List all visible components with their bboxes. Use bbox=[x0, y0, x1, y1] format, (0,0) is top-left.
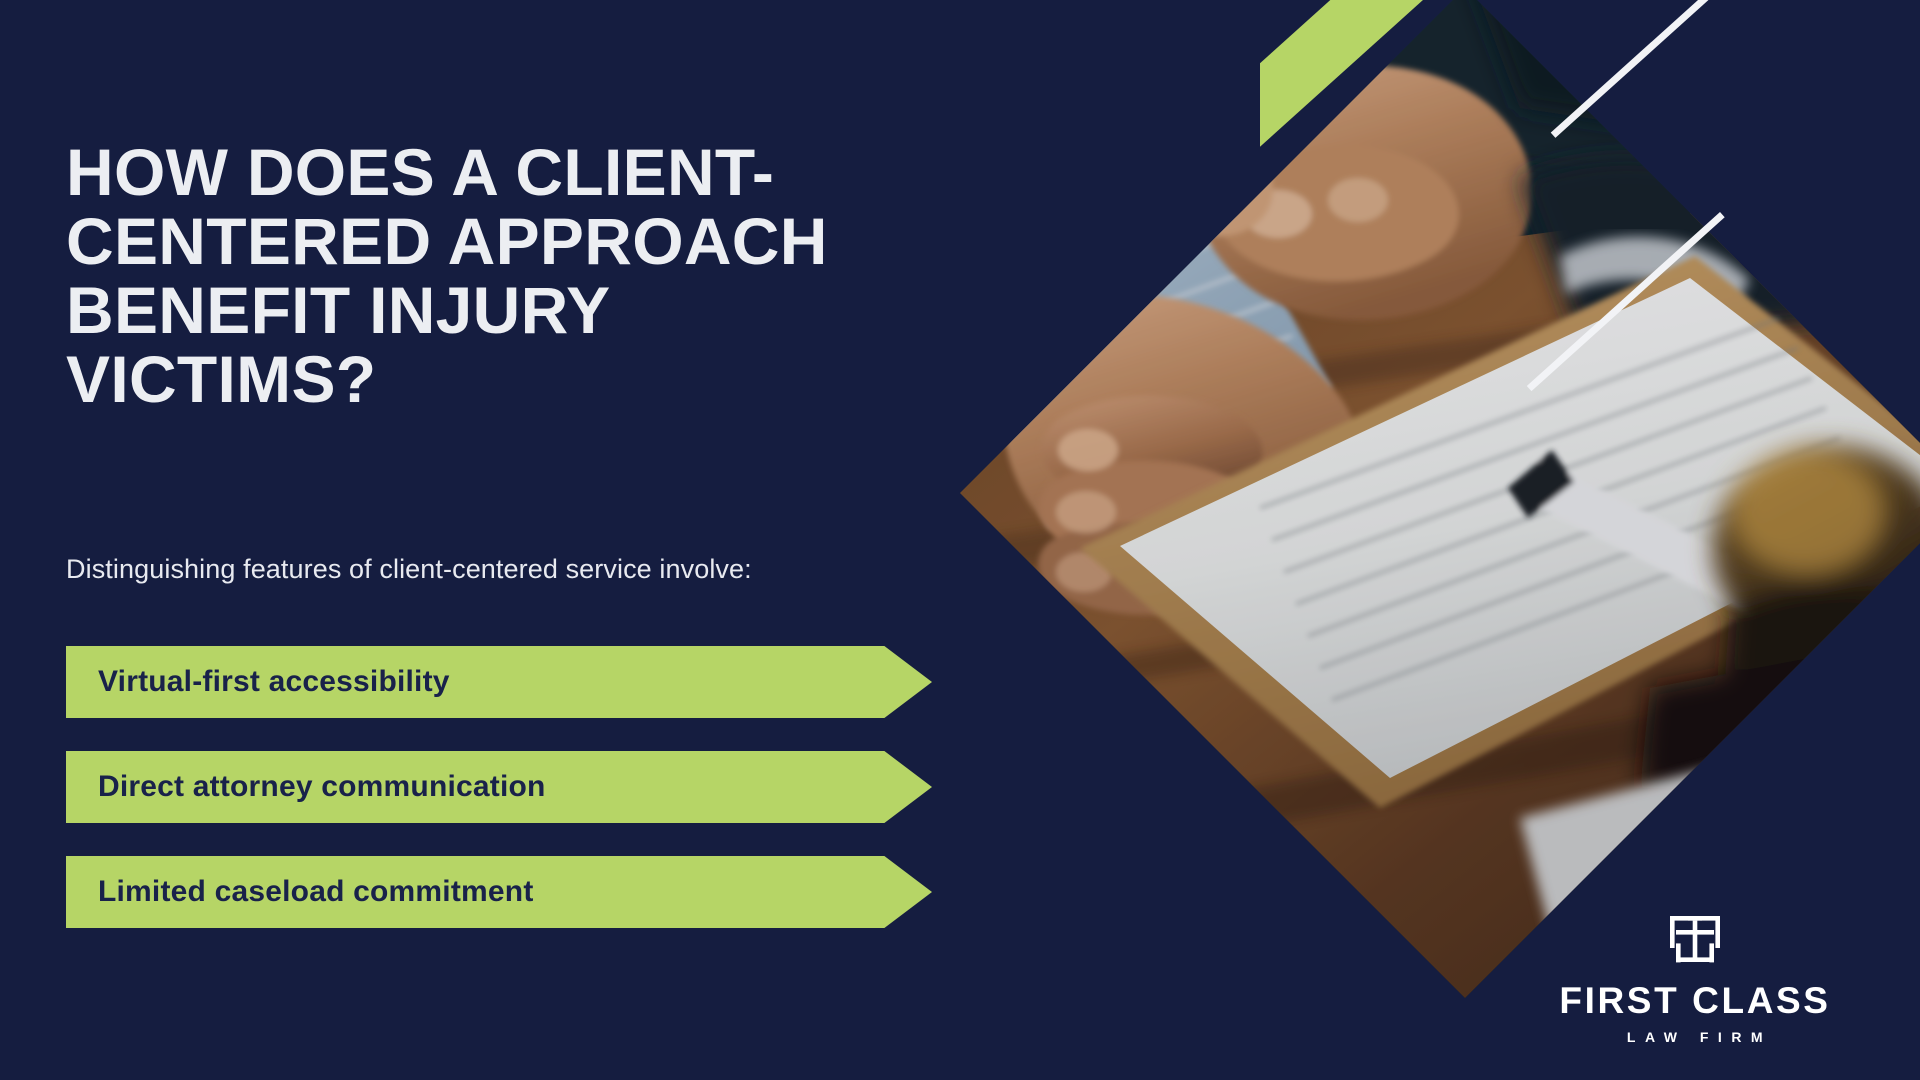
photo-diamond bbox=[960, 0, 1920, 998]
feature-banner-label: Virtual-first accessibility bbox=[66, 665, 450, 699]
headline-line-2: CENTERED APPROACH bbox=[66, 207, 1076, 276]
brand-tagline: LAW FIRM bbox=[1530, 1030, 1860, 1044]
page-title: HOW DOES A CLIENT- CENTERED APPROACH BEN… bbox=[66, 138, 1076, 414]
brand-logo: FIRST CLASS LAW FIRM bbox=[1530, 913, 1860, 1044]
headline-line-1: HOW DOES A CLIENT- bbox=[66, 138, 1076, 207]
feature-banner-label: Direct attorney communication bbox=[66, 770, 546, 804]
headline-line-3: BENEFIT INJURY bbox=[66, 276, 1076, 345]
poster-canvas: HOW DOES A CLIENT- CENTERED APPROACH BEN… bbox=[0, 0, 1920, 1080]
feature-banner-label: Limited caseload commitment bbox=[66, 875, 534, 909]
feature-banner: Limited caseload commitment bbox=[66, 856, 932, 928]
double-f-monogram-icon bbox=[1664, 913, 1726, 969]
feature-banner: Direct attorney communication bbox=[66, 751, 932, 823]
handshake-desk-photo bbox=[960, 0, 1920, 998]
feature-banner-list: Virtual-first accessibility Direct attor… bbox=[66, 646, 946, 961]
subtitle: Distinguishing features of client-center… bbox=[66, 552, 1076, 587]
headline-line-4: VICTIMS? bbox=[66, 345, 1076, 414]
feature-banner: Virtual-first accessibility bbox=[66, 646, 932, 718]
content-column: HOW DOES A CLIENT- CENTERED APPROACH BEN… bbox=[66, 0, 1076, 1080]
brand-name: FIRST CLASS bbox=[1530, 982, 1860, 1019]
